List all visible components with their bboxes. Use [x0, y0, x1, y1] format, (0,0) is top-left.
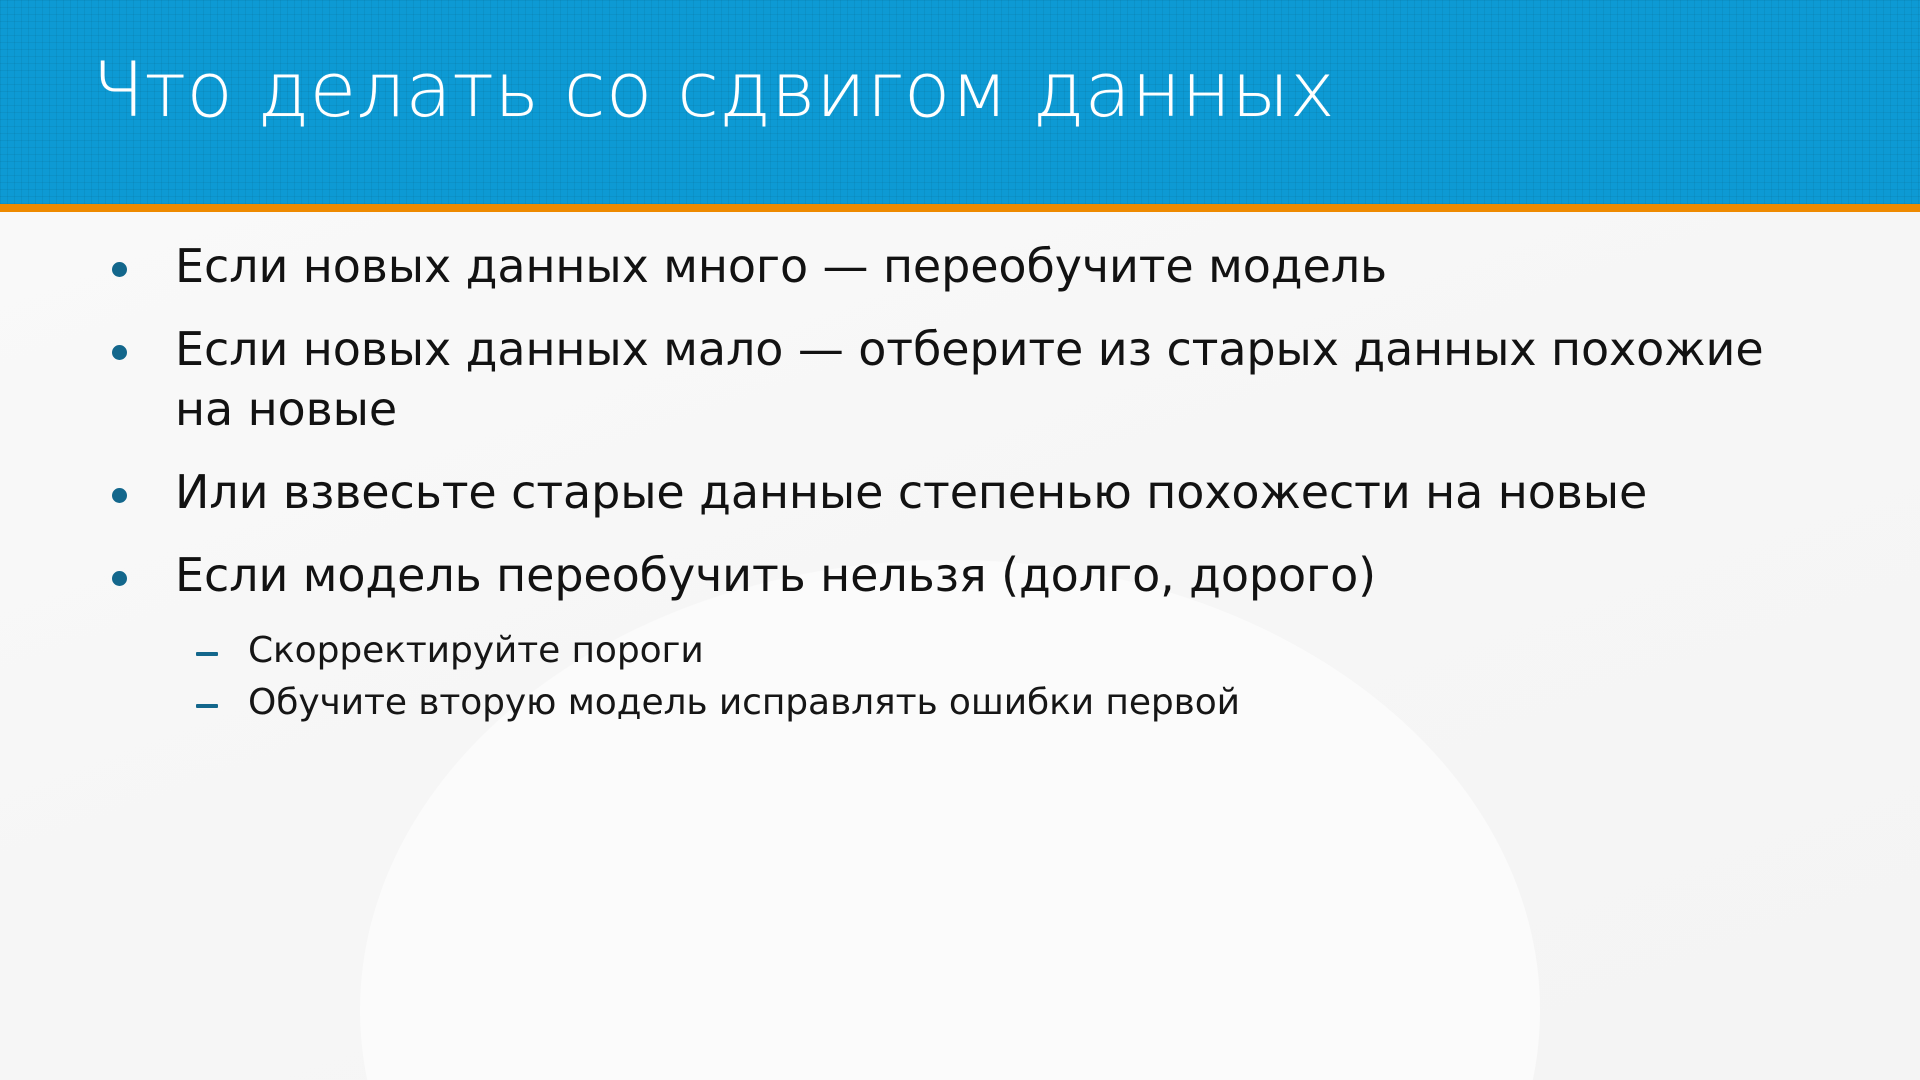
dot-bullet-glyph: [112, 345, 127, 360]
dash-bullet-icon: [196, 628, 248, 656]
title-accent-rule: [0, 204, 1920, 212]
sub-bullet-text: Обучите вторую модель исправлять ошибки …: [248, 680, 1800, 727]
presentation-slide: Что делать со сдвигом данных Если новых …: [0, 0, 1920, 1080]
bullet-item: Если новых данных мало — отберите из ста…: [0, 319, 1920, 440]
bullet-item: Если модель переобучить нельзя (долго, д…: [0, 545, 1920, 606]
bullet-text: Если новых данных много — переобучите мо…: [175, 236, 1800, 297]
dot-bullet-glyph: [112, 488, 127, 503]
dot-bullet-icon: [112, 545, 175, 586]
bullet-list: Если новых данных много — переобучите мо…: [0, 212, 1920, 727]
dash-bullet-glyph: [196, 652, 218, 656]
bullet-text: Или взвесьте старые данные степенью похо…: [175, 462, 1800, 523]
dot-bullet-icon: [112, 236, 175, 277]
dot-bullet-icon: [112, 462, 175, 503]
sub-bullet-item: Обучите вторую модель исправлять ошибки …: [0, 680, 1920, 727]
sub-bullet-text: Скорректируйте пороги: [248, 628, 1800, 675]
dash-bullet-glyph: [196, 704, 218, 708]
bullet-text: Если модель переобучить нельзя (долго, д…: [175, 545, 1800, 606]
dot-bullet-glyph: [112, 262, 127, 277]
bullet-text: Если новых данных мало — отберите из ста…: [175, 319, 1800, 440]
dot-bullet-icon: [112, 319, 175, 360]
slide-title-bar: Что делать со сдвигом данных: [0, 0, 1920, 204]
dash-bullet-icon: [196, 680, 248, 708]
dot-bullet-glyph: [112, 571, 127, 586]
bullet-item: Если новых данных много — переобучите мо…: [0, 236, 1920, 297]
slide-title: Что делать со сдвигом данных: [92, 50, 1840, 130]
bullet-item: Или взвесьте старые данные степенью похо…: [0, 462, 1920, 523]
slide-content: Если новых данных много — переобучите мо…: [0, 212, 1920, 1080]
sub-bullet-item: Скорректируйте пороги: [0, 628, 1920, 675]
